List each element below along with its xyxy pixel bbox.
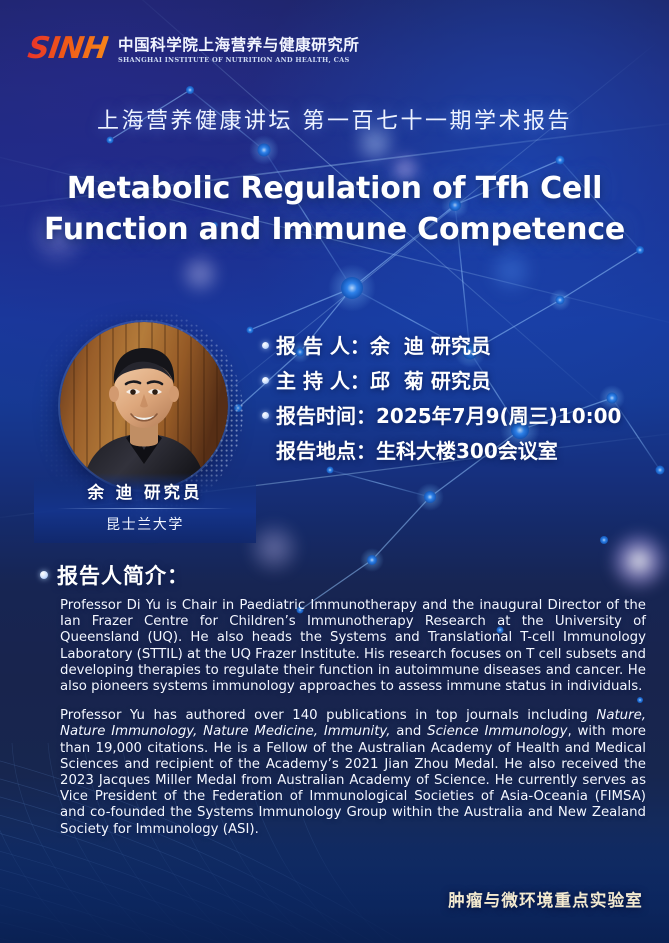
detail-value: 邱 菊 研究员 bbox=[370, 365, 491, 394]
detail-label: 报告时间： bbox=[276, 400, 376, 429]
footer-lab-name: 肿瘤与微环境重点实验室 bbox=[448, 887, 643, 911]
event-details: 报 告 人： 余 迪 研究员 主 持 人： 邱 菊 研究员 报告时间： 2025… bbox=[262, 330, 658, 470]
detail-row-host: 主 持 人： 邱 菊 研究员 bbox=[262, 365, 658, 394]
detail-row-time: 报告时间： 2025年7月9(周三)10:00 bbox=[262, 400, 658, 429]
bullet-icon bbox=[262, 377, 269, 384]
institute-name-en: SHANGHAI INSTITUTE OF NUTRITION AND HEAL… bbox=[118, 56, 360, 64]
bio-paragraph-1: Professor Di Yu is Chair in Paediatric I… bbox=[60, 598, 646, 695]
bio-heading-label: 报告人简介： bbox=[57, 560, 189, 590]
bio-body: Professor Di Yu is Chair in Paediatric I… bbox=[60, 598, 646, 838]
institute-name-block: 中国科学院上海营养与健康研究所 SHANGHAI INSTITUTE OF NU… bbox=[118, 33, 360, 64]
detail-row-speaker: 报 告 人： 余 迪 研究员 bbox=[262, 330, 658, 359]
speaker-card: 余 迪 研究员 昆士兰大学 bbox=[48, 318, 244, 532]
speaker-nameplate-affiliation: 昆士兰大学 bbox=[34, 514, 256, 534]
detail-label: 报告地点： bbox=[276, 435, 376, 464]
institute-logo: SINH 中国科学院上海营养与健康研究所 SHANGHAI INSTITUTE … bbox=[28, 33, 360, 64]
detail-label: 主 持 人： bbox=[276, 365, 370, 394]
speaker-photo bbox=[60, 322, 228, 490]
glow-orb-photo bbox=[178, 252, 222, 296]
bullet-icon bbox=[262, 412, 269, 419]
detail-value: 余 迪 研究员 bbox=[370, 330, 491, 359]
bio-p2-part-a: Professor Yu has authored over 140 publi… bbox=[60, 708, 596, 723]
sinh-logo-mark: SINH bbox=[26, 34, 109, 64]
detail-value: 2025年7月9(周三)10:00 bbox=[376, 400, 621, 429]
lecture-series-line: 上海营养健康讲坛 第一百七十一期学术报告 bbox=[0, 103, 669, 135]
glow-orb-right-bright bbox=[608, 530, 669, 592]
bio-heading: 报告人简介： bbox=[40, 560, 189, 590]
bottom-band bbox=[0, 825, 669, 943]
bio-p2-part-b: and bbox=[390, 724, 427, 739]
detail-row-venue: 报告地点： 生科大楼300会议室 bbox=[262, 435, 658, 464]
glow-orb-blue-faint bbox=[486, 246, 536, 296]
bio-paragraph-2: Professor Yu has authored over 140 publi… bbox=[60, 708, 646, 838]
detail-value: 生科大楼300会议室 bbox=[376, 435, 558, 464]
nameplate-divider bbox=[57, 508, 233, 509]
lecture-title: Metabolic Regulation of Tfh Cell Functio… bbox=[34, 168, 635, 250]
bullet-icon bbox=[262, 342, 269, 349]
institute-name-cn: 中国科学院上海营养与健康研究所 bbox=[118, 33, 360, 55]
bio-p2-part-c: , with more than 19,000 citations. He is… bbox=[60, 724, 646, 836]
bullet-icon bbox=[40, 571, 48, 579]
speaker-nameplate: 余 迪 研究员 昆士兰大学 bbox=[34, 473, 256, 543]
detail-label: 报 告 人： bbox=[276, 330, 370, 359]
speaker-nameplate-name: 余 迪 研究员 bbox=[34, 479, 256, 503]
bio-journal-list-2: Science Immunology bbox=[427, 724, 567, 739]
poster-root: SINH 中国科学院上海营养与健康研究所 SHANGHAI INSTITUTE … bbox=[0, 0, 669, 943]
